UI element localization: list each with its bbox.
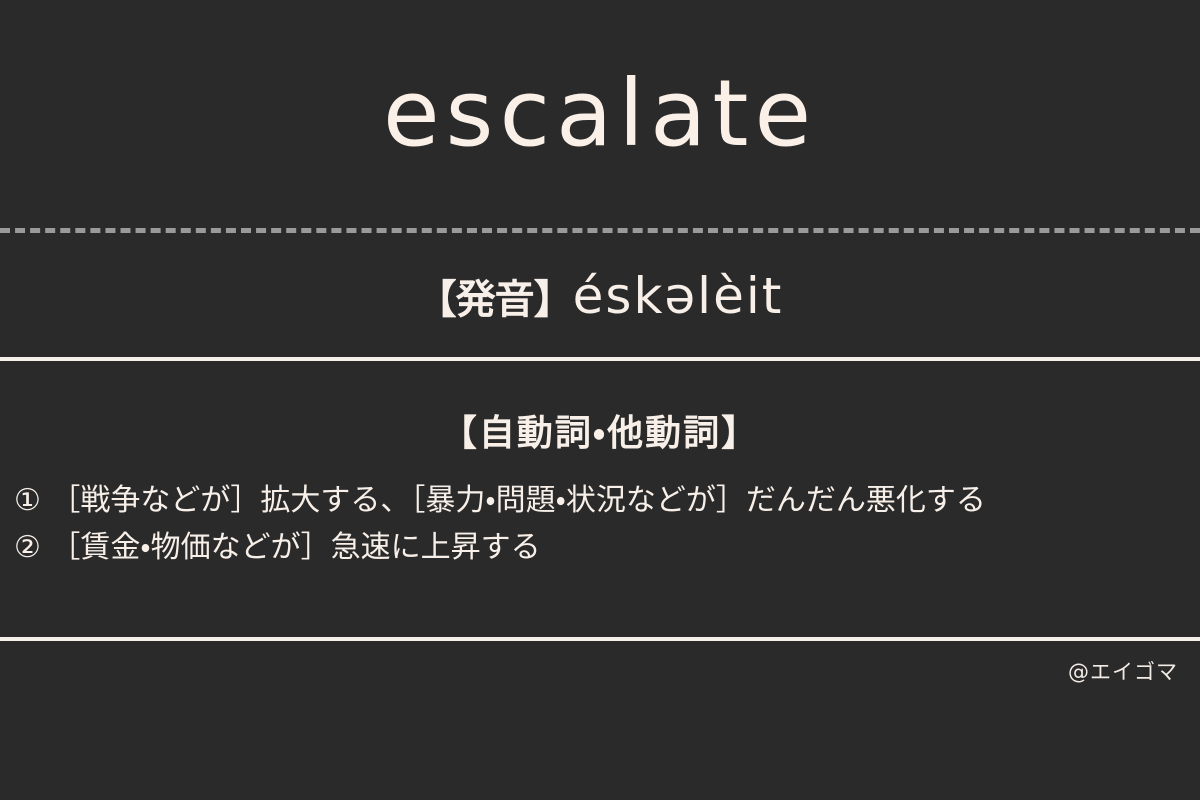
meaning-section: 【自動詞・他動詞】 ① ［戦争などが］拡大する、［暴力・問題・状況などが］だんだ…: [0, 361, 1200, 637]
pronunciation-section: 【発音】 éskəlèit: [0, 236, 1200, 356]
sense-list: ① ［戦争などが］拡大する、［暴力・問題・状況などが］だんだん悪化する ② ［賃…: [0, 478, 1200, 571]
watermark-credit: @エイゴマ: [1068, 656, 1200, 686]
sense-item: ② ［賃金・物価などが］急速に上昇する: [0, 525, 1200, 572]
footer-section: @エイゴマ: [0, 641, 1200, 701]
vocabulary-card: escalate 【発音】 éskəlèit 【自動詞・他動詞】 ① ［戦争など…: [0, 0, 1200, 800]
headword-text: escalate: [383, 68, 817, 160]
pronunciation-ipa: éskəlèit: [573, 267, 784, 325]
pronunciation-line: 【発音】 éskəlèit: [417, 267, 784, 325]
headword-section: escalate: [0, 0, 1200, 228]
part-of-speech-heading: 【自動詞・他動詞】: [0, 404, 1200, 456]
dashed-divider: [0, 228, 1200, 233]
sense-item: ① ［戦争などが］拡大する、［暴力・問題・状況などが］だんだん悪化する: [0, 478, 1200, 525]
pronunciation-label: 【発音】: [417, 267, 573, 325]
